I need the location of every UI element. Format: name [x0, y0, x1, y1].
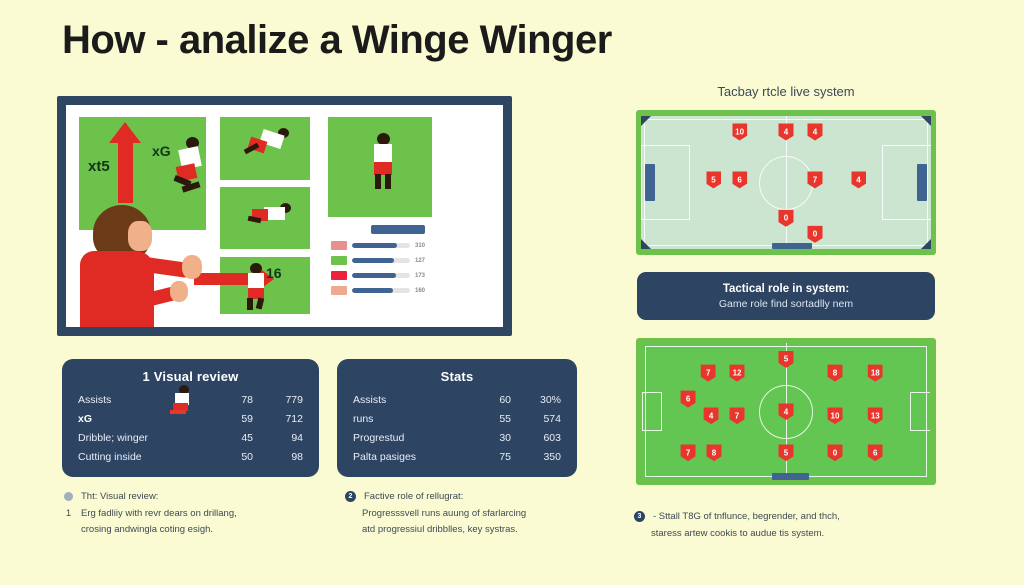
role-banner-title: Tactical role in system: — [723, 283, 849, 295]
caption-line-1: staress artew cookis to audue tis system… — [651, 526, 824, 542]
legend-value: 127 — [415, 258, 425, 264]
stat-label: runs — [353, 410, 465, 429]
caption-line-1: Erg fadliiy with revr dears on drillang, — [81, 508, 237, 519]
caption-line-1: Progresssvell runs auung of sfarlarcing — [362, 508, 526, 519]
stat-value-1: 50 — [207, 448, 253, 467]
player-sprite-overlay — [170, 385, 196, 417]
table-row: Palta pasiges 75 350 — [353, 448, 561, 467]
stat-value-1: 59 — [207, 410, 253, 429]
stat-value-2: 574 — [511, 410, 561, 429]
caption-line-2: atd progressiul dribblles, key systras. — [362, 524, 518, 535]
caption-heading: - Sttall T8G of tnflunce, begrender, and… — [653, 509, 840, 525]
xg-label: xG — [152, 143, 171, 159]
goal-bottom — [772, 473, 809, 480]
legend-row: 310 — [331, 241, 425, 250]
tactical-role-banner: Tactical role in system: Game role find … — [637, 272, 935, 320]
table-row: Progrestud 30 603 — [353, 429, 561, 448]
goal-right — [917, 164, 927, 201]
legend-value: 310 — [415, 243, 425, 249]
table-row: Cutting inside 50 98 — [78, 448, 303, 467]
legend-track — [352, 243, 410, 248]
legend-track — [352, 258, 410, 263]
visual-review-panel: 1 Visual review Assists 78 779 xG 59 712… — [62, 359, 319, 477]
stat-value-2: 350 — [511, 448, 561, 467]
table-row: runs 55 574 — [353, 410, 561, 429]
stat-value-1: 55 — [465, 410, 511, 429]
stat-value-2: 712 — [253, 410, 303, 429]
legend-track — [352, 273, 410, 278]
stat-value-1: 45 — [207, 429, 253, 448]
bullet-number-icon: 2 — [345, 491, 356, 502]
coach-face — [128, 221, 152, 251]
page-title: How - analize a Winge Winger — [62, 18, 612, 63]
player-sprite-3 — [248, 200, 294, 230]
legend-swatch — [331, 286, 347, 295]
player-sprite-5 — [369, 133, 397, 193]
center-circle — [759, 156, 813, 210]
caption-index — [634, 526, 643, 542]
player-sprite-1 — [172, 137, 206, 199]
stat-value-1: 78 — [207, 391, 253, 410]
legend-swatch — [331, 256, 347, 265]
up-arrow-icon — [118, 141, 133, 203]
stat-value-1: 75 — [465, 448, 511, 467]
bullet-number-icon: 3 — [634, 511, 645, 522]
caption-system-influence: 3 - Sttall T8G of tnflunce, begrender, a… — [634, 509, 934, 542]
stat-label: Palta pasiges — [353, 448, 465, 467]
six-yard-box-left — [642, 392, 662, 430]
bullet-dot-icon — [64, 492, 73, 501]
legend-track — [352, 288, 410, 293]
infographic-page: How - analize a Winge Winger xt5 xG 16 — [0, 0, 1024, 585]
stat-value-1: 30 — [465, 429, 511, 448]
goal-bottom — [772, 243, 813, 249]
stat-value-2: 30% — [511, 391, 561, 410]
legend-row: 127 — [331, 256, 425, 265]
caption-factive-role: 2 Factive role of rellugrat: Progresssve… — [345, 489, 590, 538]
stat-value-2: 94 — [253, 429, 303, 448]
caption-visual-review: Tht: Visual review: 1 Erg fadliiy with r… — [64, 489, 339, 538]
stat-value-2: 603 — [511, 429, 561, 448]
legend-swatch — [331, 271, 347, 280]
panel-title: 1 Visual review — [78, 369, 303, 384]
pitch-turf: 5 7 12 8 18 6 4 7 4 10 13 7 8 5 0 6 — [642, 343, 930, 480]
legend-value: 173 — [415, 273, 425, 279]
goal-left — [645, 164, 655, 201]
stat-label: Assists — [353, 391, 465, 410]
table-row: Assists 60 30% — [353, 391, 561, 410]
six-yard-box-right — [910, 392, 930, 430]
legend-value: 160 — [415, 288, 425, 294]
caption-line-2: crosing andwingla coting esigh. — [81, 524, 213, 535]
right-column-heading: Tacbay rtcle live system — [636, 84, 936, 99]
stats-panel: Stats Assists 60 30% runs 55 574 Progres… — [337, 359, 577, 477]
caption-heading: Tht: Visual review: — [81, 489, 158, 505]
whiteboard-surface: xt5 xG 16 — [66, 105, 503, 327]
coach-hand-lower — [170, 281, 188, 302]
stat-label: Dribble; winger — [78, 429, 207, 448]
legend-swatch — [331, 241, 347, 250]
stat-value-1: 60 — [465, 391, 511, 410]
pitch-diagram-top: 10 4 4 5 6 7 4 0 0 — [636, 110, 936, 255]
caption-index — [345, 506, 354, 538]
pitch-diagram-bottom: 5 7 12 8 18 6 4 7 4 10 13 7 8 5 0 6 — [636, 338, 936, 485]
legend-row: 173 — [331, 271, 425, 280]
stat-label: Progrestud — [353, 429, 465, 448]
role-banner-subtitle: Game role find sortadlly nem — [719, 298, 853, 310]
caption-heading: Factive role of rellugrat: — [364, 489, 463, 505]
whiteboard-frame: xt5 xG 16 — [57, 96, 512, 336]
player-sprite-4 — [242, 263, 270, 311]
caption-index: 1 — [64, 506, 73, 538]
player-sprite-2 — [244, 127, 292, 163]
xt-label: xt5 — [88, 158, 110, 175]
panel-title: Stats — [353, 369, 561, 384]
stat-label: Cutting inside — [78, 448, 207, 467]
stat-value-2: 779 — [253, 391, 303, 410]
legend-row: 160 — [331, 286, 425, 295]
stat-value-2: 98 — [253, 448, 303, 467]
pitch-turf: 10 4 4 5 6 7 4 0 0 — [641, 116, 931, 249]
coach-hand-upper — [182, 255, 202, 279]
table-row: Dribble; winger 45 94 — [78, 429, 303, 448]
legend-header-bar — [371, 225, 425, 234]
